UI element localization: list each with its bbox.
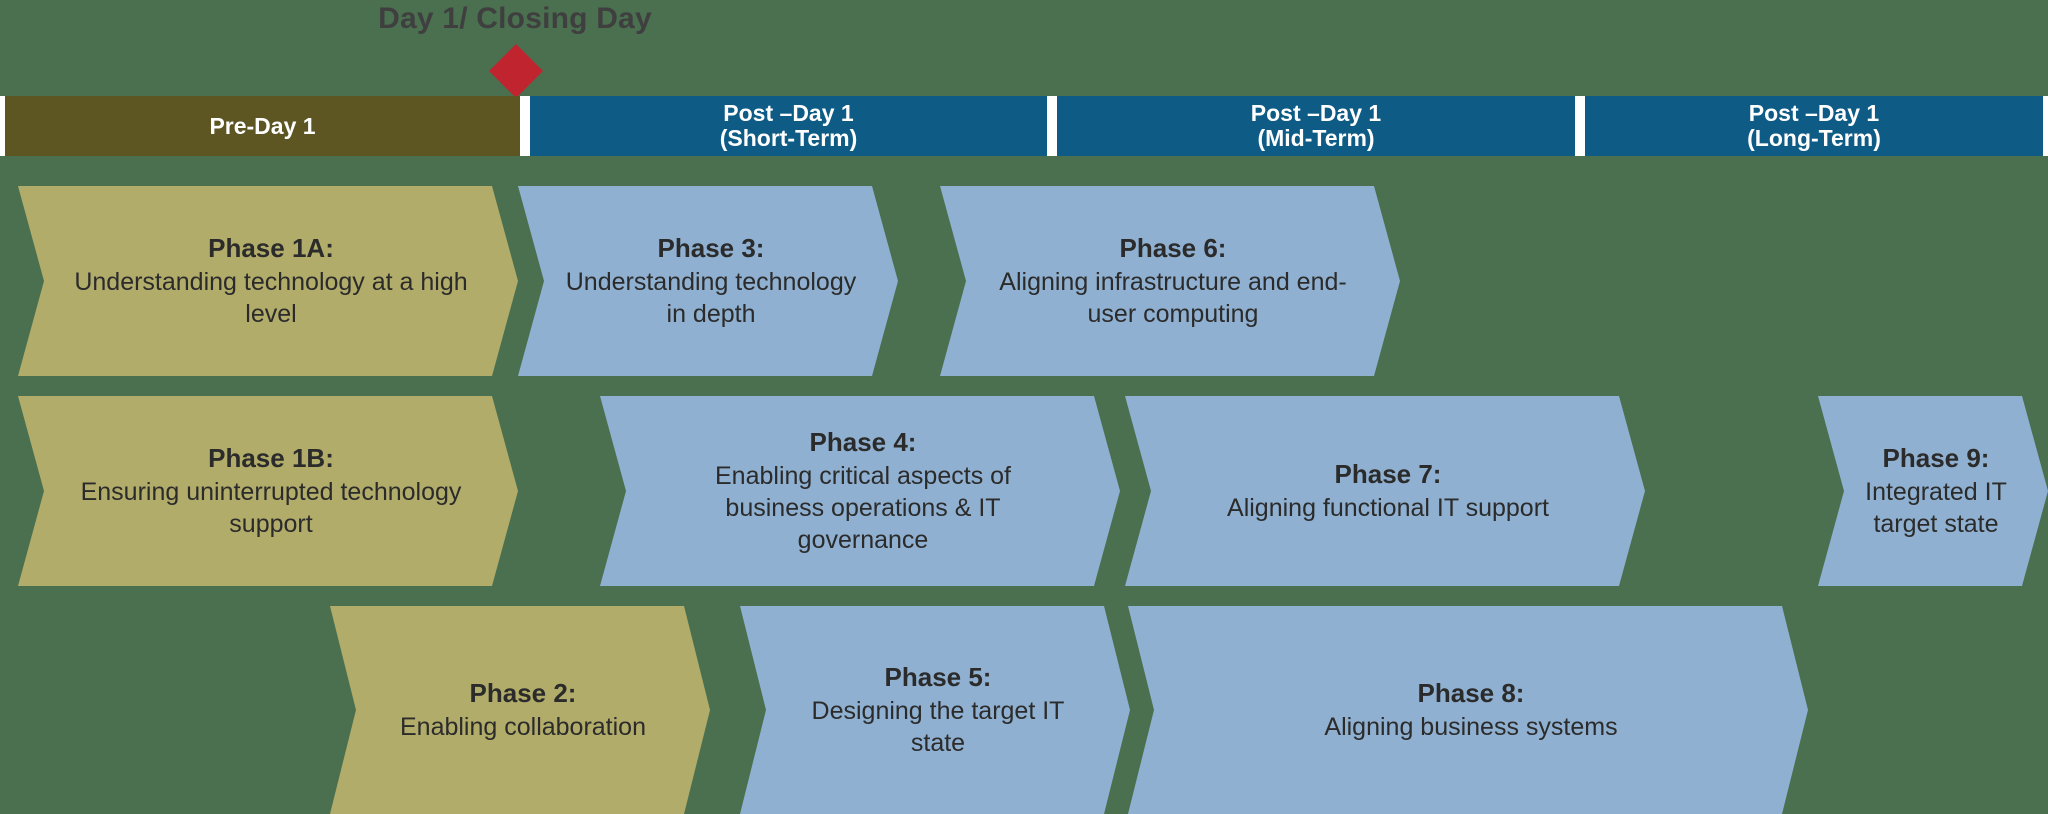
timeline-header-line1: Post –Day 1	[723, 101, 853, 126]
phase-title: Phase 8:	[1211, 677, 1731, 710]
phase-label: Phase 8:Aligning business systems	[1160, 606, 1782, 814]
phase-label: Phase 3:Understanding technology in dept…	[550, 186, 872, 376]
phase-description: Designing the target IT state	[808, 695, 1068, 759]
phase-label: Phase 2:Enabling collaboration	[362, 606, 684, 814]
phase-title: Phase 7:	[1173, 458, 1603, 491]
phase-row-1: Phase 1A:Understanding technology at a h…	[0, 186, 2048, 376]
phase-chevron[interactable]: Phase 2:Enabling collaboration	[330, 606, 710, 814]
timeline-header-line2: (Short-Term)	[720, 126, 858, 151]
phase-label: Phase 5:Designing the target IT state	[772, 606, 1104, 814]
phase-label: Phase 1A:Understanding technology at a h…	[50, 186, 492, 376]
phase-title: Phase 4:	[663, 426, 1063, 459]
phase-chevron[interactable]: Phase 1A:Understanding technology at a h…	[18, 186, 518, 376]
phase-label: Phase 9:Integrated IT target state	[1850, 396, 2022, 586]
phase-chevron[interactable]: Phase 8:Aligning business systems	[1128, 606, 1808, 814]
phase-description: Understanding technology at a high level	[61, 266, 481, 330]
phase-description: Enabling critical aspects of business op…	[663, 460, 1063, 556]
timeline-header: Pre-Day 1Post –Day 1(Short-Term)Post –Da…	[0, 96, 2048, 156]
timeline-header-line2: (Long-Term)	[1747, 126, 1881, 151]
phase-chevron[interactable]: Phase 4:Enabling critical aspects of bus…	[600, 396, 1120, 586]
timeline-header-cell-1[interactable]: Pre-Day 1	[0, 96, 525, 156]
phase-title: Phase 1A:	[61, 232, 481, 265]
phase-title: Phase 3:	[561, 232, 861, 265]
timeline-header-line1: Post –Day 1	[1251, 101, 1381, 126]
phase-label: Phase 1B:Ensuring uninterrupted technolo…	[50, 396, 492, 586]
phase-label: Phase 7:Aligning functional IT support	[1157, 396, 1619, 586]
phase-chevron[interactable]: Phase 3:Understanding technology in dept…	[518, 186, 898, 376]
phase-label: Phase 4:Enabling critical aspects of bus…	[632, 396, 1094, 586]
phase-title: Phase 1B:	[61, 442, 481, 475]
timeline-header-line1: Post –Day 1	[1749, 101, 1879, 126]
timeline-header-line2: (Mid-Term)	[1257, 126, 1374, 151]
phase-title: Phase 2:	[373, 677, 673, 710]
timeline-header-cell-3[interactable]: Post –Day 1(Mid-Term)	[1052, 96, 1580, 156]
phase-chevron[interactable]: Phase 6:Aligning infrastructure and end-…	[940, 186, 1400, 376]
diagram-canvas: Day 1/ Closing Day Pre-Day 1Post –Day 1(…	[0, 0, 2048, 814]
timeline-header-line1: Pre-Day 1	[209, 114, 315, 139]
phase-description: Understanding technology in depth	[561, 266, 861, 330]
diamond-icon	[489, 44, 543, 98]
phase-title: Phase 5:	[808, 661, 1068, 694]
phase-description: Enabling collaboration	[373, 711, 673, 743]
phase-row-2: Phase 1B:Ensuring uninterrupted technolo…	[0, 396, 2048, 586]
phase-label: Phase 6:Aligning infrastructure and end-…	[972, 186, 1374, 376]
timeline-header-cell-2[interactable]: Post –Day 1(Short-Term)	[525, 96, 1052, 156]
phase-description: Aligning infrastructure and end-user com…	[983, 266, 1363, 330]
phase-chevron[interactable]: Phase 7:Aligning functional IT support	[1125, 396, 1645, 586]
phase-chevron[interactable]: Phase 5:Designing the target IT state	[740, 606, 1130, 814]
phase-title: Phase 9:	[1861, 442, 2011, 475]
timeline-header-cell-4[interactable]: Post –Day 1(Long-Term)	[1580, 96, 2048, 156]
phase-chevron[interactable]: Phase 1B:Ensuring uninterrupted technolo…	[18, 396, 518, 586]
phase-description: Aligning functional IT support	[1173, 492, 1603, 524]
phase-description: Aligning business systems	[1211, 711, 1731, 743]
milestone-label: Day 1/ Closing Day	[280, 2, 750, 36]
phase-description: Ensuring uninterrupted technology suppor…	[61, 476, 481, 540]
phase-row-3: Phase 2:Enabling collaborationPhase 5:De…	[0, 606, 2048, 814]
phase-title: Phase 6:	[983, 232, 1363, 265]
phase-chevron[interactable]: Phase 9:Integrated IT target state	[1818, 396, 2048, 586]
phase-description: Integrated IT target state	[1861, 476, 2011, 540]
